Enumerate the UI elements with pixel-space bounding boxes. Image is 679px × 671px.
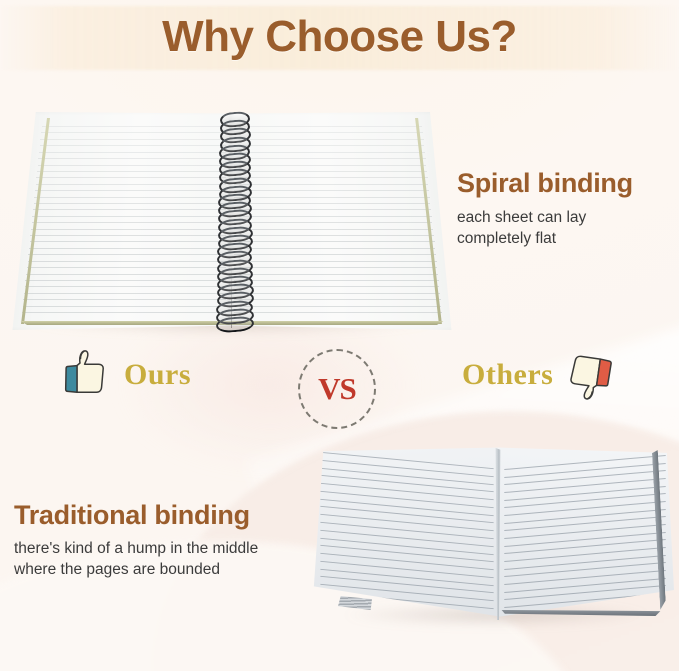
rule-line — [234, 165, 426, 166]
traditional-page-right-rules — [498, 444, 674, 622]
rule-line — [234, 177, 428, 178]
spiral-description: each sheet can lay completely flat — [457, 208, 675, 249]
rule-line — [320, 460, 493, 477]
rule-line — [38, 158, 226, 159]
rule-line — [504, 547, 665, 562]
rule-line — [504, 463, 665, 478]
rule-line — [234, 139, 424, 140]
rule-line — [234, 312, 442, 313]
rule-line — [25, 286, 226, 287]
traditional-page-left-rules — [312, 444, 500, 622]
rule-line — [27, 267, 226, 268]
rule-line — [42, 126, 226, 127]
rule-line — [320, 514, 493, 531]
rule-line — [320, 530, 493, 547]
rule-line — [26, 274, 226, 275]
versus-badge: VS — [298, 349, 376, 429]
rule-line — [234, 274, 438, 275]
rule-line — [504, 585, 665, 600]
rule-line — [234, 209, 431, 210]
rule-line — [34, 197, 226, 198]
thumbs-down-icon — [565, 347, 615, 403]
rule-line — [38, 165, 226, 166]
rule-line — [504, 562, 665, 577]
rule-line — [234, 241, 435, 242]
rule-line — [234, 158, 426, 159]
rule-line — [32, 216, 226, 217]
rule-line — [25, 280, 226, 281]
rule-line — [320, 561, 493, 578]
traditional-page-right — [498, 444, 674, 622]
comparison-ours: Ours — [60, 347, 191, 403]
rule-line — [234, 306, 441, 307]
comparison-row: Ours VS Others — [0, 347, 679, 427]
rule-line — [234, 229, 433, 230]
rule-line — [504, 555, 665, 570]
traditional-page-left — [312, 444, 500, 622]
traditional-description-line-1: there's kind of a hump in the middle — [14, 539, 344, 559]
rule-line — [32, 222, 226, 223]
rule-line — [504, 570, 665, 585]
rule-line — [234, 235, 434, 236]
rule-line — [30, 235, 226, 236]
rule-line — [504, 524, 665, 539]
spiral-notebook-illustration — [8, 112, 456, 337]
rule-line — [28, 261, 227, 262]
rule-line — [35, 190, 226, 191]
rule-line — [28, 254, 226, 255]
rule-line — [320, 545, 493, 562]
spiral-page-left — [8, 112, 230, 330]
rule-line — [29, 248, 226, 249]
rule-line — [234, 145, 424, 146]
rule-line — [504, 478, 665, 493]
rule-line — [320, 491, 493, 508]
rule-line — [320, 483, 493, 500]
rule-line — [40, 139, 226, 140]
infographic-canvas: Why Choose Us? Spiral binding each sheet… — [0, 0, 679, 671]
rule-line — [320, 475, 493, 492]
rule-line — [37, 171, 226, 172]
spiral-description-line-2: completely flat — [457, 229, 675, 249]
rule-line — [234, 132, 423, 133]
rule-line — [234, 267, 437, 268]
traditional-description-line-2: where the pages are bounded — [14, 560, 344, 580]
versus-label: VS — [318, 371, 356, 407]
spiral-page-right-rules — [230, 112, 456, 330]
rule-line — [234, 261, 437, 262]
rule-line — [234, 293, 440, 294]
rule-line — [504, 532, 665, 547]
rule-line — [234, 248, 435, 249]
rule-line — [234, 171, 427, 172]
rule-line — [234, 280, 439, 281]
rule-line — [320, 553, 493, 570]
traditional-notebook-illustration — [312, 444, 674, 634]
rule-line — [234, 152, 425, 153]
rule-line — [36, 177, 226, 178]
rule-line — [504, 470, 665, 485]
rule-line — [23, 306, 226, 307]
spiral-heading: Spiral binding — [457, 168, 675, 199]
traditional-description: there's kind of a hump in the middle whe… — [14, 539, 344, 580]
rule-line — [504, 539, 665, 554]
rule-line — [234, 197, 430, 198]
rule-line — [504, 486, 665, 501]
rule-line — [41, 132, 226, 133]
rule-line — [39, 152, 226, 153]
others-label: Others — [462, 358, 553, 392]
rule-line — [36, 184, 226, 185]
rule-line — [30, 241, 227, 242]
rule-line — [504, 578, 665, 593]
rule-line — [504, 501, 665, 516]
rule-line — [234, 190, 429, 191]
rule-line — [504, 493, 665, 508]
thumbs-up-icon — [60, 347, 110, 403]
rule-line — [234, 216, 432, 217]
rule-line — [234, 184, 428, 185]
spiral-page-right — [230, 112, 456, 330]
rule-line — [22, 312, 226, 313]
rule-line — [234, 286, 439, 287]
traditional-heading: Traditional binding — [14, 500, 344, 531]
spiral-description-line-1: each sheet can lay — [457, 208, 675, 228]
rule-line — [31, 229, 226, 230]
rule-line — [504, 516, 665, 531]
rule-line — [320, 522, 493, 539]
rule-line — [504, 455, 665, 470]
rule-line — [234, 299, 441, 300]
spiral-feature-text: Spiral binding each sheet can lay comple… — [457, 168, 675, 249]
rule-line — [24, 293, 226, 294]
rule-line — [34, 203, 226, 204]
rule-line — [234, 222, 432, 223]
rule-line — [33, 209, 226, 210]
ours-label: Ours — [124, 358, 191, 392]
rule-line — [40, 145, 226, 146]
rule-line — [234, 203, 430, 204]
traditional-feature-text: Traditional binding there's kind of a hu… — [14, 500, 344, 580]
page-title: Why Choose Us? — [0, 12, 679, 62]
rule-line — [504, 509, 665, 524]
rule-line — [23, 299, 226, 300]
rule-line — [320, 452, 493, 469]
rule-line — [234, 254, 436, 255]
rule-line — [234, 126, 422, 127]
spiral-page-left-rules — [8, 112, 230, 330]
spiral-coil-binding — [213, 110, 251, 332]
comparison-others: Others — [462, 347, 615, 403]
